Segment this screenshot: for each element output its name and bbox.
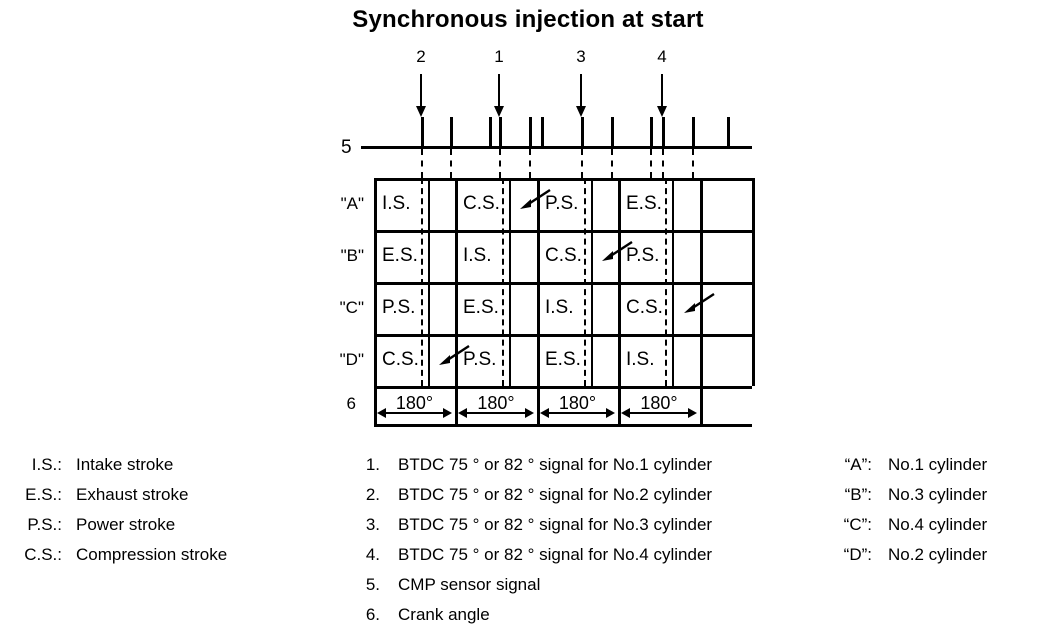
cmp-pulse [489, 117, 492, 146]
stroke-cell: C.S. [463, 194, 500, 213]
grid-vline [672, 178, 674, 386]
grid-hline [374, 282, 752, 285]
cmp-pulse [499, 117, 502, 146]
dropper-line [611, 149, 613, 178]
legend-number-value: BTDC 75 ° or 82 ° signal for No.2 cylind… [398, 480, 712, 510]
grid-hline [374, 230, 752, 233]
marker-number: 4 [655, 48, 669, 65]
dimension-arrow-left [621, 408, 630, 418]
legend-number-key: 6. [362, 600, 380, 630]
crank-angle-label: 6 [320, 395, 356, 412]
legend-cylinder-key: “C”: [838, 510, 872, 540]
marker-head [494, 106, 504, 117]
legend-stroke-value: Exhaust stroke [76, 480, 188, 510]
cmp-pulse [421, 117, 424, 146]
stroke-cell: E.S. [545, 350, 581, 369]
legend-stroke-key: I.S.: [14, 450, 62, 480]
stroke-cell: E.S. [463, 298, 499, 317]
legend-number-key: 3. [362, 510, 380, 540]
grid-vline [455, 178, 458, 424]
legend-cylinder-value: No.2 cylinder [888, 540, 987, 570]
legend-number-key: 2. [362, 480, 380, 510]
legend-cylinder-value: No.1 cylinder [888, 450, 987, 480]
grid-vline [618, 178, 621, 424]
stroke-cell: P.S. [382, 298, 415, 317]
cmp-pulse [611, 117, 614, 146]
marker-number: 2 [414, 48, 428, 65]
legend-number-key: 4. [362, 540, 380, 570]
marker-head [416, 106, 426, 117]
injection-arrow-a [518, 188, 552, 210]
grid-vdash [502, 178, 504, 386]
cmp-pulse [450, 117, 453, 146]
injection-arrow-c [682, 292, 716, 314]
stroke-cell: I.S. [545, 298, 574, 317]
stroke-cell: I.S. [382, 194, 411, 213]
grid-vline [428, 178, 430, 386]
injection-arrow-d [437, 344, 471, 366]
dimension-bar [384, 412, 445, 414]
marker-number: 3 [574, 48, 588, 65]
injection-arrow-b [600, 240, 634, 262]
row-label-1: "A" [318, 195, 364, 212]
grid-vdash [584, 178, 586, 386]
dimension-arrow-left [458, 408, 467, 418]
legend-cylinder-value: No.4 cylinder [888, 510, 987, 540]
dimension-arrow-left [540, 408, 549, 418]
dimension-arrow-left [377, 408, 386, 418]
dimension-arrow-right [688, 408, 697, 418]
stroke-cell: E.S. [626, 194, 662, 213]
stroke-cell: C.S. [626, 298, 663, 317]
dimension-bar [465, 412, 527, 414]
stroke-cell: I.S. [626, 350, 655, 369]
legend-stroke-value: Compression stroke [76, 540, 227, 570]
cmp-pulse [727, 117, 730, 146]
row-label-2: "B" [318, 247, 364, 264]
marker-shaft [498, 74, 500, 108]
dimension-bar [628, 412, 690, 414]
crank-angle-dimension [540, 408, 615, 419]
dimension-bar [547, 412, 608, 414]
legend-number-value: CMP sensor signal [398, 570, 540, 600]
legend-cylinder-key: “B”: [838, 480, 872, 510]
grid-hline [374, 334, 752, 337]
legend-number-key: 5. [362, 570, 380, 600]
cmp-pulse [529, 117, 532, 146]
legend-stroke-value: Power stroke [76, 510, 175, 540]
legend-number-value: BTDC 75 ° or 82 ° signal for No.4 cylind… [398, 540, 712, 570]
crank-angle-dimension [621, 408, 697, 419]
legend-cylinder-key: “D”: [838, 540, 872, 570]
marker-head [576, 106, 586, 117]
stroke-cell: C.S. [545, 246, 582, 265]
dropper-line [421, 149, 423, 178]
dropper-line [529, 149, 531, 178]
legend-stroke-value: Intake stroke [76, 450, 173, 480]
row-label-3: "C" [318, 299, 364, 316]
grid-vline [537, 178, 540, 424]
legend-stroke-key: C.S.: [14, 540, 62, 570]
marker-head [657, 106, 667, 117]
grid-vline [374, 178, 377, 424]
marker-number: 1 [492, 48, 506, 65]
dropper-line [662, 149, 664, 178]
crank-angle-dimension [458, 408, 534, 419]
cmp-pulse [692, 117, 695, 146]
grid-vdash [665, 178, 667, 386]
legend-stroke-key: E.S.: [14, 480, 62, 510]
dropper-line [499, 149, 501, 178]
legend-cylinder-value: No.3 cylinder [888, 480, 987, 510]
grid-hline [374, 424, 752, 427]
grid-hline [374, 386, 752, 389]
row-label-4: "D" [318, 351, 364, 368]
dropper-line [450, 149, 452, 178]
crank-angle-dimension [377, 408, 452, 419]
legend-cylinder-key: “A”: [838, 450, 872, 480]
stroke-cell: C.S. [382, 350, 419, 369]
legend-number-key: 1. [362, 450, 380, 480]
dropper-line [692, 149, 694, 178]
grid-vdash [421, 178, 423, 386]
marker-shaft [580, 74, 582, 108]
page-title: Synchronous injection at start [0, 6, 1056, 34]
cmp-pulse [662, 117, 665, 146]
cmp-pulse [541, 117, 544, 146]
dropper-line [581, 149, 583, 178]
signal-label-5: 5 [341, 138, 352, 157]
legend-number-value: BTDC 75 ° or 82 ° signal for No.1 cylind… [398, 450, 712, 480]
legend-stroke-key: P.S.: [14, 510, 62, 540]
dimension-arrow-right [525, 408, 534, 418]
grid-vline [591, 178, 593, 386]
grid-hline [374, 178, 752, 181]
cmp-pulse [650, 117, 653, 146]
legend-number-value: Crank angle [398, 600, 490, 630]
grid-vline [509, 178, 511, 386]
dimension-arrow-right [443, 408, 452, 418]
cmp-pulse [581, 117, 584, 146]
grid-vline [752, 178, 755, 386]
legend-number-value: BTDC 75 ° or 82 ° signal for No.3 cylind… [398, 510, 712, 540]
dropper-line [650, 149, 652, 178]
stroke-cell: I.S. [463, 246, 492, 265]
dimension-arrow-right [606, 408, 615, 418]
marker-shaft [420, 74, 422, 108]
stroke-cell: E.S. [382, 246, 418, 265]
marker-shaft [661, 74, 663, 108]
